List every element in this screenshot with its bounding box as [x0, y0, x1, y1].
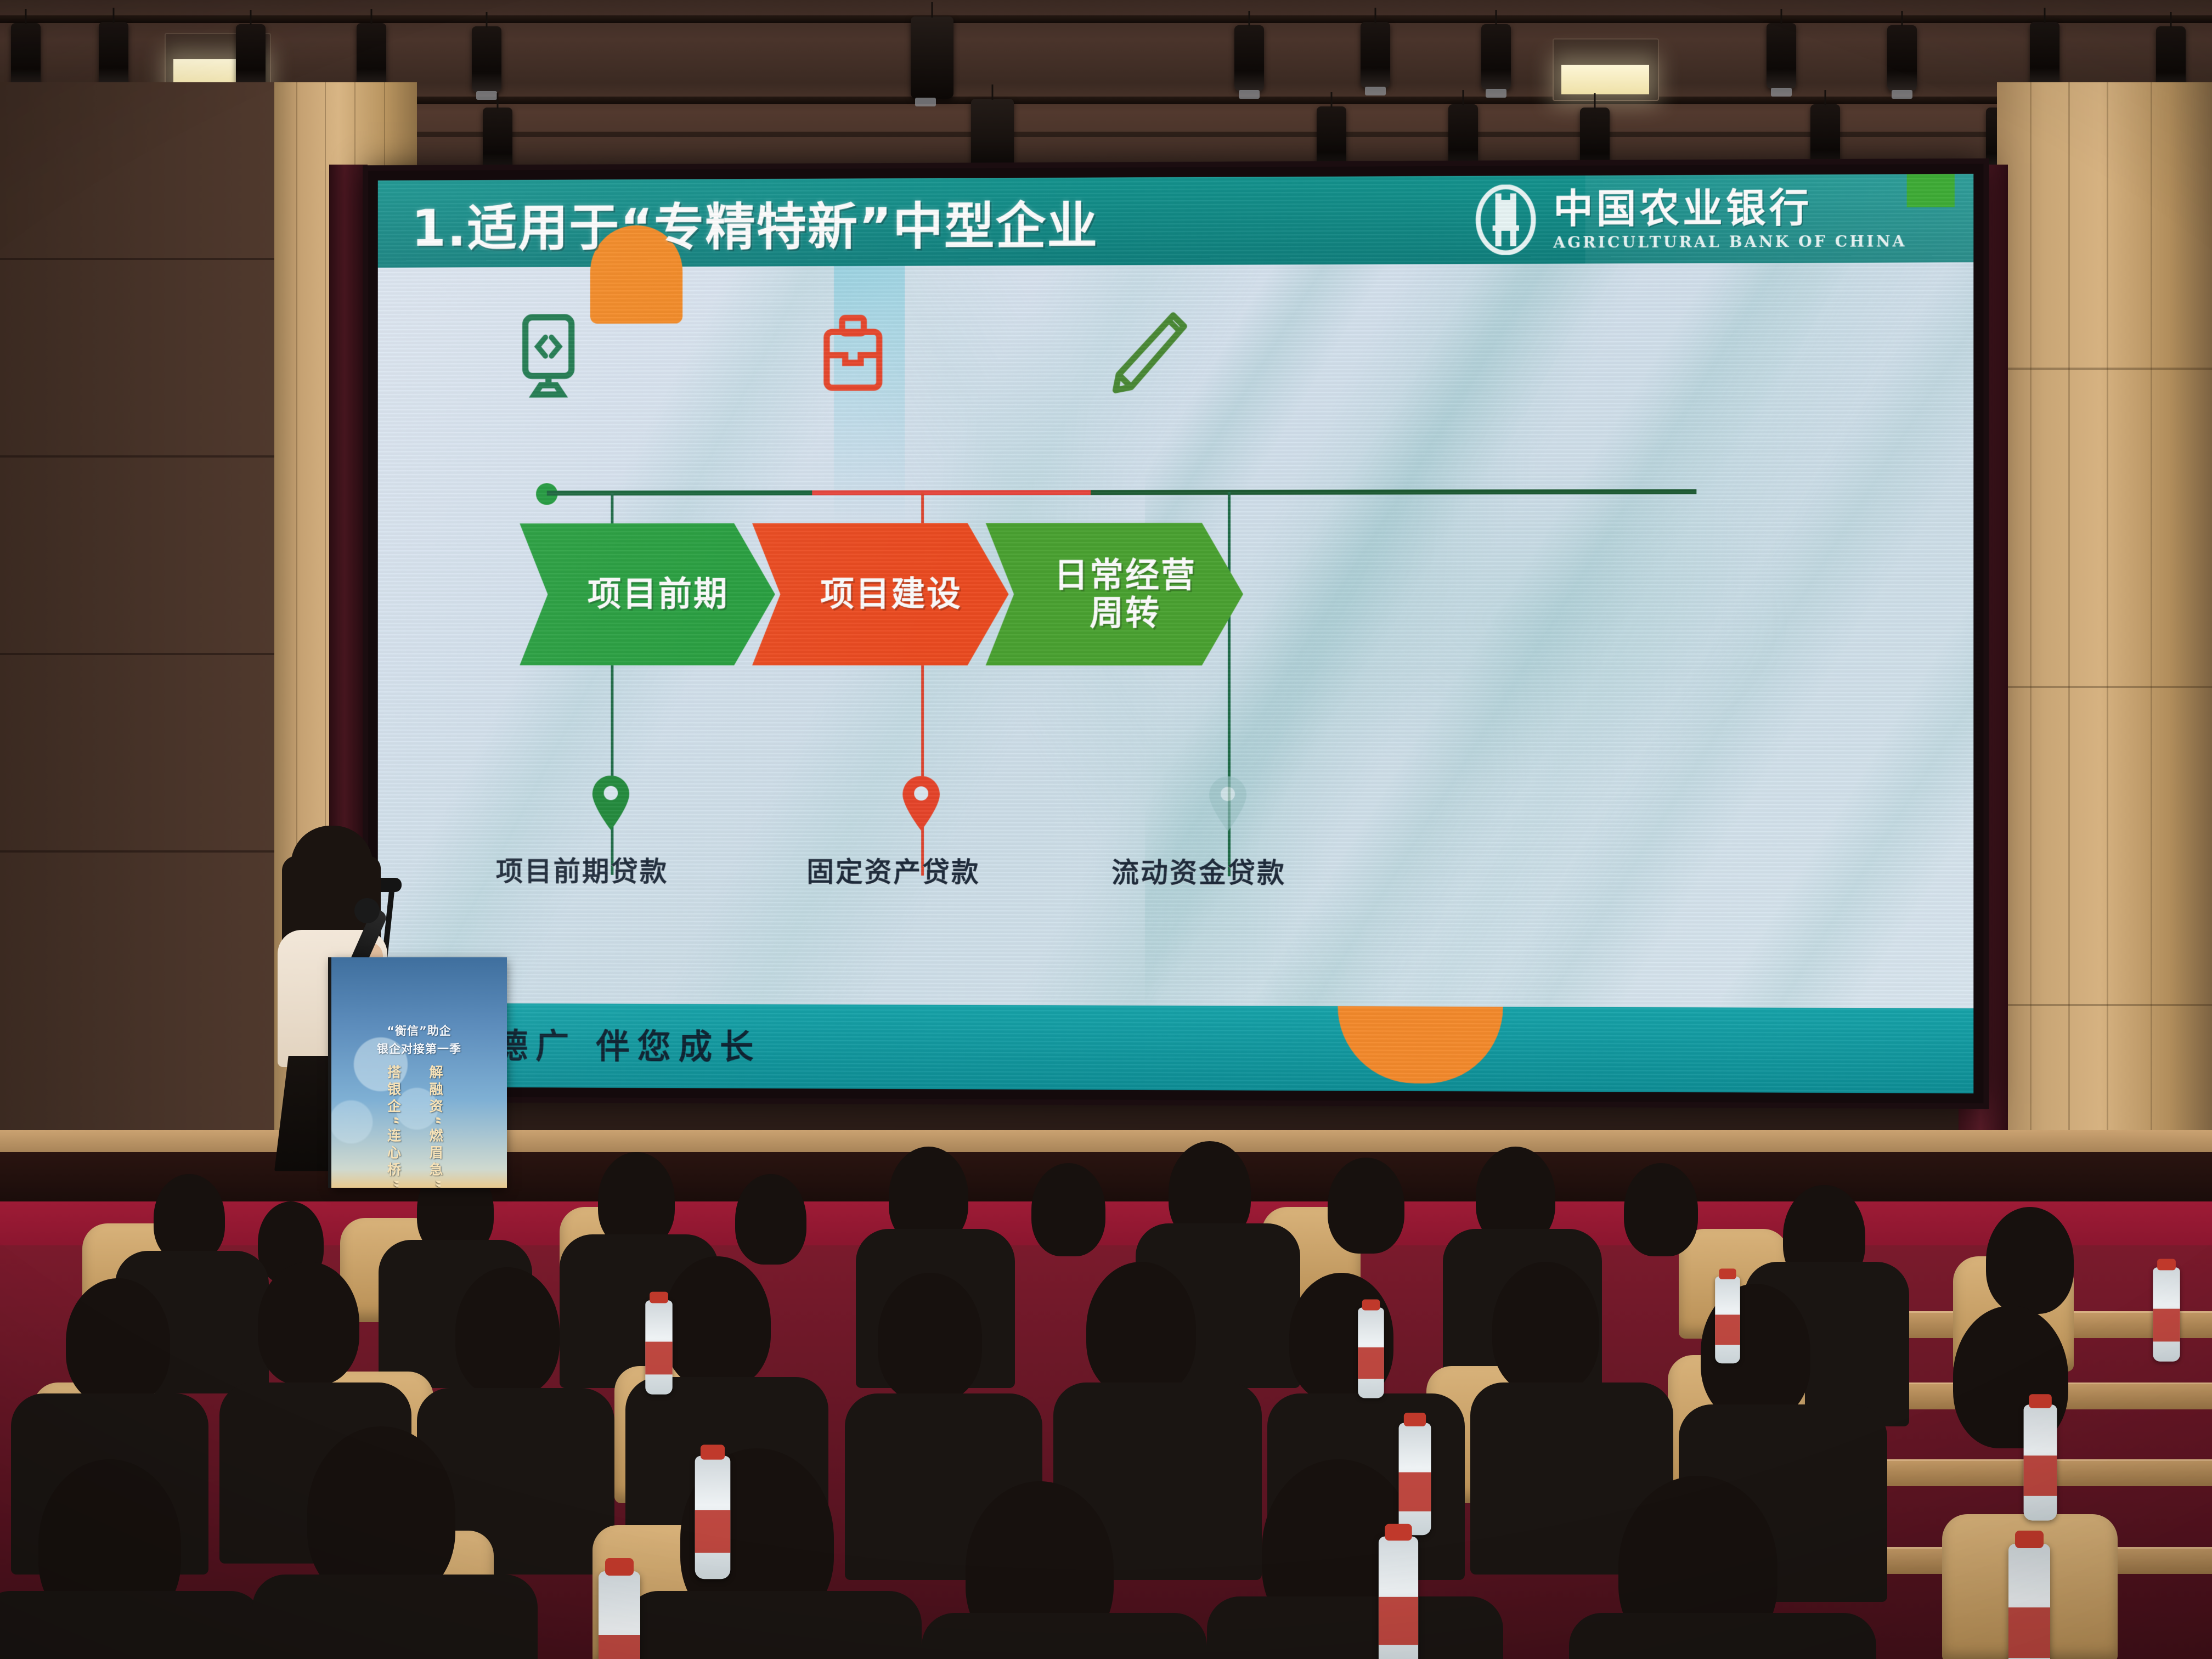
- stage-arrow-2: 项目建设: [752, 523, 1008, 665]
- stage-arrow-1: 项目前期: [520, 523, 775, 665]
- audience-head: [735, 1174, 806, 1265]
- stage-arrow-3: 日常经营 周转: [986, 523, 1243, 665]
- stage-spotlight: [1580, 108, 1610, 173]
- stage-spotlight: [1481, 24, 1511, 90]
- brand-name-cn: 中国农业银行: [1553, 188, 1906, 229]
- footer-sun-shape: [1338, 1006, 1503, 1084]
- podium-title: “衡信”助企 银企对接第一季: [331, 1022, 507, 1058]
- audience-body: [1207, 1596, 1503, 1659]
- audience-head: [1624, 1163, 1698, 1256]
- map-pin-icon: [1207, 775, 1249, 832]
- stage-spotlight: [1887, 25, 1917, 91]
- podium-slogan-left: 搭银企“连心桥”: [384, 1065, 402, 1188]
- stage-spotlight: [1317, 106, 1346, 172]
- right-wall-panel: [1997, 82, 2212, 1245]
- water-bottle: [599, 1571, 640, 1659]
- podium-sign: “衡信”助企 银企对接第一季 搭银企“连心桥” 解融资“燃眉急”: [331, 957, 507, 1188]
- water-bottle: [1715, 1277, 1740, 1363]
- map-pin-icon: [900, 775, 942, 832]
- timeline-segment-green-end: [1091, 489, 1696, 495]
- water-bottle: [2153, 1267, 2180, 1362]
- podium-slogan-right: 解融资“燃眉急”: [426, 1065, 444, 1188]
- audience-head: [1328, 1158, 1404, 1254]
- photo-scene: 1.适用于“专精特新”中型企业 中国农业银行 AGRICULTURAL BANK…: [0, 0, 2212, 1659]
- stage-spotlight: [357, 23, 386, 89]
- stage-arrow-2-label: 项目建设: [798, 575, 962, 613]
- map-pin-icon: [590, 775, 631, 832]
- water-bottle: [1358, 1308, 1384, 1398]
- stage-spotlight: [236, 24, 266, 90]
- ceiling-lamp-box: [1553, 38, 1659, 101]
- audience-body: [625, 1591, 922, 1659]
- moving-head-light: [911, 16, 953, 99]
- water-bottle: [1379, 1537, 1418, 1659]
- audience-head: [1986, 1207, 2074, 1314]
- abc-brand-lockup: 中国农业银行 AGRICULTURAL BANK OF CHINA: [1472, 183, 1906, 256]
- audience-head: [1031, 1163, 1105, 1256]
- audience-body: [1569, 1613, 1876, 1659]
- audience-head: [154, 1174, 225, 1262]
- product-label-2: 固定资产贷款: [806, 850, 980, 890]
- audience-head: [1086, 1262, 1196, 1396]
- header-green-chip: [1907, 174, 1955, 207]
- audience-head: [258, 1262, 359, 1385]
- monitor-code-icon: [503, 308, 595, 400]
- audience-body: [252, 1575, 538, 1659]
- slide-header-bar: 1.适用于“专精特新”中型企业 中国农业银行 AGRICULTURAL BANK…: [378, 174, 1974, 268]
- presentation-slide: 1.适用于“专精特新”中型企业 中国农业银行 AGRICULTURAL BANK…: [378, 174, 1974, 1093]
- stage-spotlight: [1810, 104, 1840, 170]
- pencil-icon: [1102, 306, 1195, 399]
- water-bottle: [645, 1300, 672, 1395]
- stage-spotlight: [11, 23, 41, 89]
- audience-head: [455, 1267, 560, 1396]
- product-label-1: 项目前期贷款: [496, 850, 669, 889]
- led-screen-frame: 1.适用于“专精特新”中型企业 中国农业银行 AGRICULTURAL BANK…: [368, 164, 1984, 1104]
- water-bottle: [1399, 1423, 1431, 1536]
- audience-head: [66, 1278, 170, 1404]
- brand-name-en: AGRICULTURAL BANK OF CHINA: [1553, 234, 1906, 250]
- stage-spotlight: [2030, 22, 2059, 88]
- product-label-3: 流动资金贷款: [1111, 851, 1286, 891]
- slide-title: 1.适用于“专精特新”中型企业: [411, 185, 1098, 260]
- water-bottle: [2008, 1544, 2050, 1659]
- audience-body: [0, 1591, 263, 1659]
- stage-spotlight: [1448, 104, 1478, 170]
- abc-spike-logo-icon: [1472, 184, 1539, 255]
- audience-head: [1492, 1262, 1599, 1393]
- podium-title-line2: 银企对接第一季: [331, 1040, 507, 1058]
- stage-spotlight: [1767, 23, 1796, 89]
- lighting-truss-bar: [0, 15, 2212, 23]
- water-bottle: [695, 1456, 731, 1579]
- audience-head: [664, 1256, 771, 1388]
- stage-spotlight: [472, 26, 501, 92]
- audience-body: [922, 1613, 1207, 1659]
- stage-spotlight: [1234, 25, 1264, 91]
- audience-head: [598, 1152, 675, 1248]
- stage-arrow-1-label: 项目前期: [566, 575, 729, 613]
- slide-footer-bar: 德广 伴您成长: [378, 1003, 1974, 1093]
- podium-vertical-slogans: 搭银企“连心桥” 解融资“燃眉急”: [384, 1065, 444, 1188]
- water-bottle: [2024, 1404, 2057, 1520]
- slide-tagline: 德广 伴您成长: [494, 1019, 761, 1069]
- briefcase-icon: [806, 307, 899, 400]
- podium-title-line1: “衡信”助企: [331, 1022, 507, 1040]
- stage-spotlight: [1361, 22, 1390, 88]
- timeline-segment-red: [812, 490, 1092, 495]
- stage-spotlight: [99, 22, 128, 88]
- background-terrain-texture-right: [1145, 262, 1973, 1008]
- stage-arrow-3-label: 日常经营 周转: [1032, 556, 1197, 633]
- slide-body: 项目前期 项目建设 日常经营 周转: [378, 262, 1974, 1008]
- stage-spotlight: [483, 108, 512, 173]
- timeline-segment-green: [547, 490, 814, 496]
- audience-head: [878, 1273, 982, 1402]
